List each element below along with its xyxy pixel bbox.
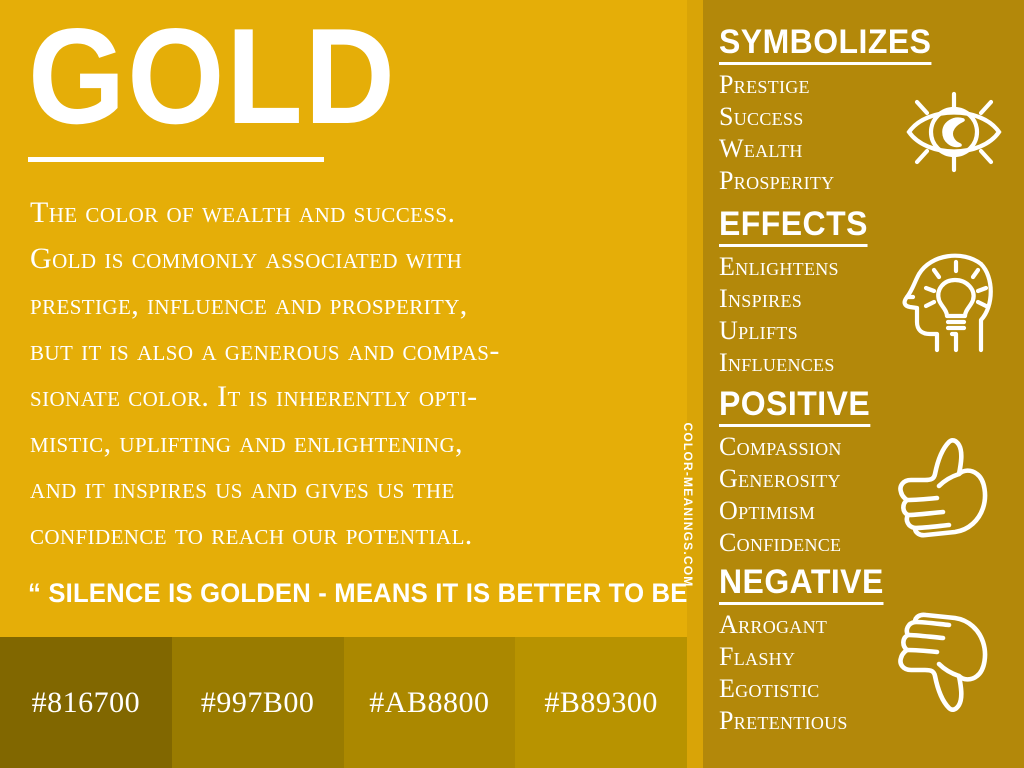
right-panel: SYMBOLIZES Prestige Success Wealth Prosp… [703, 0, 1024, 768]
quote-text: “ SILENCE IS GOLDEN - MEANS IT IS BETTER… [28, 578, 636, 609]
section-positive: POSITIVE Compassion Generosity Optimism … [719, 386, 1019, 559]
page-title: GOLD [28, 10, 598, 143]
swatch-hex-label: #AB8800 [344, 686, 516, 720]
color-swatch-bar: #816700 #997B00 #AB8800 #B89300 [0, 637, 687, 768]
description-text: The color of wealth and success. Gold is… [30, 190, 670, 558]
title-block: GOLD [28, 10, 648, 162]
head-lightbulb-icon [893, 244, 1005, 356]
color-swatch: #B89300 [515, 637, 687, 768]
description-line: sionate color. It is inherently opti- [30, 374, 670, 420]
section-heading: NEGATIVE [719, 564, 884, 605]
swatch-hex-label: #816700 [0, 686, 172, 720]
left-panel: GOLD The color of wealth and success. Go… [0, 0, 687, 768]
color-swatch: #816700 [0, 637, 172, 768]
section-negative: NEGATIVE Arrogant Flashy Egotistic Prete… [719, 564, 1019, 737]
description-line: prestige, influence and prosperity, [30, 282, 670, 328]
watermark-label: COLOR-MEANINGS.COM [681, 423, 695, 588]
color-swatch: #997B00 [172, 637, 344, 768]
description-line: confidence to reach our potential. [30, 512, 670, 558]
title-underline-rule [28, 157, 324, 162]
section-heading: SYMBOLIZES [719, 24, 931, 65]
section-heading: EFFECTS [719, 206, 868, 247]
watermark-strip: COLOR-MEANINGS.COM [687, 0, 703, 768]
section-heading: POSITIVE [719, 386, 870, 427]
infographic-poster: GOLD The color of wealth and success. Go… [0, 0, 1024, 768]
section-symbolizes: SYMBOLIZES Prestige Success Wealth Prosp… [719, 24, 1019, 197]
section-effects: EFFECTS Enlightens Inspires Uplifts Infl… [719, 206, 1019, 379]
description-line: The color of wealth and success. [30, 190, 670, 236]
description-line: and it inspires us and gives us the [30, 466, 670, 512]
description-line: but it is also a generous and compas- [30, 328, 670, 374]
thumbs-up-icon [893, 434, 1001, 540]
swatch-hex-label: #997B00 [172, 686, 344, 720]
description-line: Gold is commonly associated with [30, 236, 670, 282]
thumbs-down-icon [893, 608, 1001, 716]
description-line: mistic, uplifting and enlightening, [30, 420, 670, 466]
color-swatch: #AB8800 [344, 637, 516, 768]
eye-icon [895, 84, 1013, 180]
swatch-hex-label: #B89300 [515, 686, 687, 720]
